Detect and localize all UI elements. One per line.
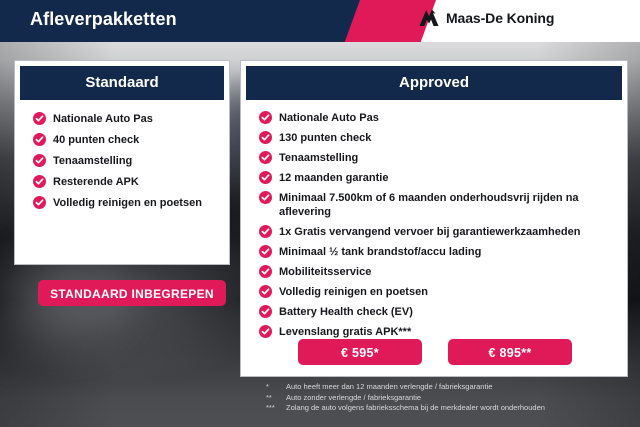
angular-m-logo-icon bbox=[418, 9, 440, 27]
approved-price-row: € 595*€ 895** bbox=[241, 339, 629, 365]
feature-item: Minimaal 7.500km of 6 maanden onderhouds… bbox=[259, 191, 617, 225]
check-circle-icon bbox=[33, 112, 46, 125]
feature-label: Nationale Auto Pas bbox=[53, 112, 153, 126]
check-circle-icon bbox=[259, 245, 272, 258]
footnote: *Auto heeft meer dan 12 maanden verlengd… bbox=[266, 382, 626, 393]
standaard-card-header: Standaard bbox=[20, 66, 224, 100]
check-circle-icon bbox=[33, 133, 46, 146]
approved-card-header: Approved bbox=[246, 66, 622, 100]
feature-item: 130 punten check bbox=[259, 131, 617, 151]
feature-item: Battery Health check (EV) bbox=[259, 305, 617, 325]
check-circle-icon bbox=[259, 151, 272, 164]
feature-item: Tenaamstelling bbox=[259, 151, 617, 171]
feature-label: Battery Health check (EV) bbox=[279, 305, 413, 319]
check-circle-icon bbox=[259, 225, 272, 238]
check-circle-icon bbox=[259, 305, 272, 318]
footnote-marker: * bbox=[266, 382, 286, 393]
check-circle-icon bbox=[259, 111, 272, 124]
feature-label: Minimaal 7.500km of 6 maanden onderhouds… bbox=[279, 191, 617, 219]
approved-card-body: Nationale Auto Pas130 punten checkTenaam… bbox=[241, 100, 627, 345]
feature-item: 1x Gratis vervangend vervoer bij garanti… bbox=[259, 225, 617, 245]
brand-lockup: Maas-De Koning bbox=[418, 9, 554, 27]
feature-item: Nationale Auto Pas bbox=[259, 111, 617, 131]
check-circle-icon bbox=[259, 171, 272, 184]
page-title: Afleverpakketten bbox=[30, 9, 177, 30]
feature-label: Tenaamstelling bbox=[53, 154, 132, 168]
price-button[interactable]: € 595* bbox=[298, 339, 422, 365]
feature-item: Minimaal ½ tank brandstof/accu lading bbox=[259, 245, 617, 265]
feature-label: 1x Gratis vervangend vervoer bij garanti… bbox=[279, 225, 580, 239]
feature-item: Nationale Auto Pas bbox=[33, 112, 219, 133]
standaard-feature-list: Nationale Auto Pas40 punten checkTenaams… bbox=[15, 112, 229, 217]
footnote: **Auto zonder verlengde / fabrieksgarant… bbox=[266, 393, 626, 404]
feature-label: Tenaamstelling bbox=[279, 151, 358, 165]
check-circle-icon bbox=[259, 285, 272, 298]
standaard-included-button[interactable]: STANDAARD INBEGREPEN bbox=[38, 280, 226, 306]
footnote: ***Zolang de auto volgens fabrieksschema… bbox=[266, 403, 626, 414]
check-circle-icon bbox=[33, 154, 46, 167]
feature-item: Resterende APK bbox=[33, 175, 219, 196]
footnote-text: Zolang de auto volgens fabrieksschema bi… bbox=[286, 403, 545, 414]
feature-item: Volledig reinigen en poetsen bbox=[33, 196, 219, 217]
check-circle-icon bbox=[33, 196, 46, 209]
feature-item: Volledig reinigen en poetsen bbox=[259, 285, 617, 305]
feature-item: 12 maanden garantie bbox=[259, 171, 617, 191]
promo-slide: Afleverpakketten Maas-De Koning Standaar… bbox=[0, 0, 640, 427]
feature-label: 12 maanden garantie bbox=[279, 171, 388, 185]
feature-label: Nationale Auto Pas bbox=[279, 111, 379, 125]
standaard-card-body: Nationale Auto Pas40 punten checkTenaams… bbox=[15, 100, 229, 217]
footnote-marker: ** bbox=[266, 393, 286, 404]
feature-label: Levenslang gratis APK*** bbox=[279, 325, 411, 339]
approved-feature-list: Nationale Auto Pas130 punten checkTenaam… bbox=[241, 111, 627, 345]
feature-item: Tenaamstelling bbox=[33, 154, 219, 175]
approved-package-card: Approved Nationale Auto Pas130 punten ch… bbox=[240, 60, 628, 377]
brand-name: Maas-De Koning bbox=[446, 10, 554, 26]
feature-item: Mobiliteitsservice bbox=[259, 265, 617, 285]
feature-label: Minimaal ½ tank brandstof/accu lading bbox=[279, 245, 481, 259]
check-circle-icon bbox=[33, 175, 46, 188]
footnote-list: *Auto heeft meer dan 12 maanden verlengd… bbox=[266, 382, 626, 414]
footnote-text: Auto heeft meer dan 12 maanden verlengde… bbox=[286, 382, 492, 393]
price-button[interactable]: € 895** bbox=[448, 339, 572, 365]
check-circle-icon bbox=[259, 325, 272, 338]
footnote-marker: *** bbox=[266, 403, 286, 414]
footnote-text: Auto zonder verlengde / fabrieksgarantie bbox=[286, 393, 421, 404]
feature-label: 40 punten check bbox=[53, 133, 139, 147]
feature-label: Mobiliteitsservice bbox=[279, 265, 371, 279]
feature-label: Volledig reinigen en poetsen bbox=[279, 285, 428, 299]
check-circle-icon bbox=[259, 265, 272, 278]
feature-label: Resterende APK bbox=[53, 175, 139, 189]
feature-item: 40 punten check bbox=[33, 133, 219, 154]
standaard-package-card: Standaard Nationale Auto Pas40 punten ch… bbox=[14, 60, 230, 265]
feature-label: Volledig reinigen en poetsen bbox=[53, 196, 202, 210]
check-circle-icon bbox=[259, 131, 272, 144]
feature-label: 130 punten check bbox=[279, 131, 371, 145]
top-banner: Afleverpakketten Maas-De Koning bbox=[0, 0, 640, 42]
check-circle-icon bbox=[259, 191, 272, 204]
